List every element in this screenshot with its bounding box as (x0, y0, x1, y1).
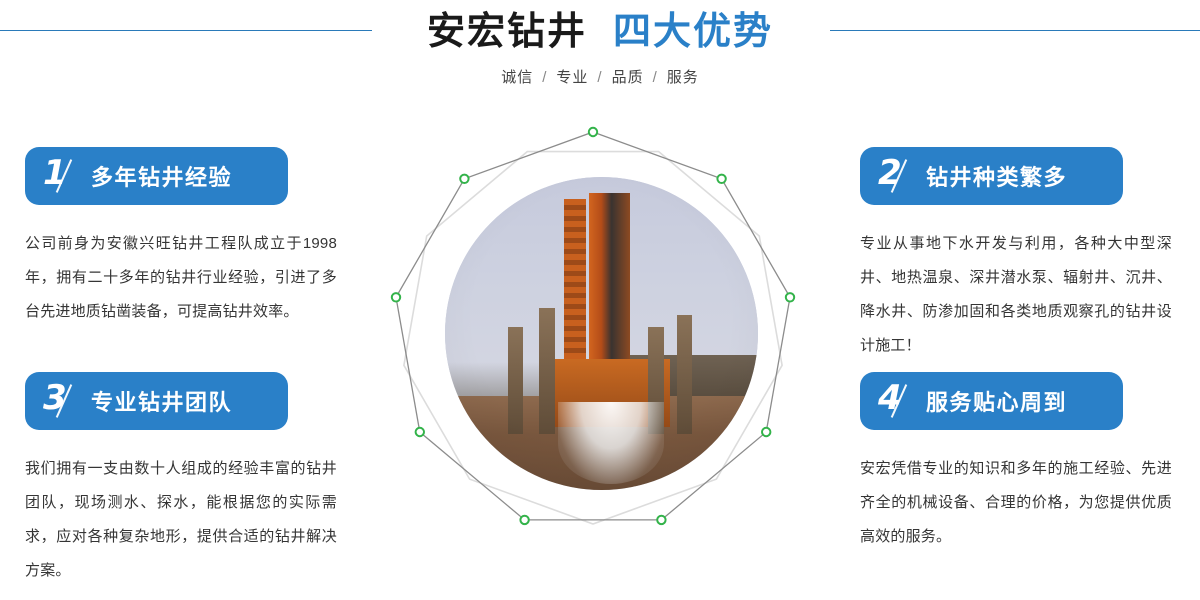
feature-card-1-header: 1 多年钻井经验 (25, 147, 288, 205)
number-3-icon: 3 (43, 379, 89, 423)
subtitle-item-2: 专业 (556, 69, 588, 86)
feature-card-4-body: 安宏凭借专业的知识和多年的施工经验、先进齐全的机械设备、合理的价格，为您提供优质… (860, 452, 1172, 554)
page-title: 安宏钻井四大优势 (0, 8, 1200, 56)
feature-card-1: 1 多年钻井经验 公司前身为安徽兴旺钻井工程队成立于1998年，拥有二十多年的钻… (25, 147, 345, 329)
polygon-vertex-marker (762, 428, 770, 436)
page-title-accent: 四大优势 (613, 11, 773, 53)
subtitle-item-1: 诚信 (501, 69, 533, 86)
feature-card-3-body: 我们拥有一支由数十人组成的经验丰富的钻井团队，现场测水、探水，能根据您的实际需求… (25, 452, 337, 588)
feature-card-2-header: 2 钻井种类繁多 (860, 147, 1123, 205)
polygon-vertex-marker (786, 293, 794, 301)
page-title-primary: 安宏钻井 (427, 11, 587, 53)
feature-card-4-header: 4 服务贴心周到 (860, 372, 1123, 430)
subtitle-separator-3: / (653, 69, 658, 86)
polygon-vertex-marker (657, 516, 665, 524)
photo-vignette (445, 177, 758, 490)
feature-card-3: 3 专业钻井团队 我们拥有一支由数十人组成的经验丰富的钻井团队，现场测水、探水，… (25, 372, 345, 588)
feature-card-4: 4 服务贴心周到 安宏凭借专业的知识和多年的施工经验、先进齐全的机械设备、合理的… (860, 372, 1180, 554)
subtitle-item-4: 服务 (667, 69, 699, 86)
feature-card-2-title: 钻井种类繁多 (926, 160, 1067, 192)
photo-scene (445, 177, 758, 490)
number-2-icon: 2 (878, 154, 924, 198)
feature-card-3-title: 专业钻井团队 (91, 385, 232, 417)
polygon-vertex-marker (416, 428, 424, 436)
polygon-vertex-marker (520, 516, 528, 524)
polygon-vertex-marker (589, 128, 597, 136)
feature-card-3-header: 3 专业钻井团队 (25, 372, 288, 430)
page-root: 安宏钻井四大优势 诚信/专业/品质/服务 1 多年钻井经验 公司前身为安徽兴旺钻… (0, 0, 1200, 600)
subtitle-separator-1: / (542, 69, 547, 86)
number-4-icon: 4 (878, 379, 924, 423)
polygon-vertex-marker (392, 293, 400, 301)
drilling-site-photo (445, 177, 758, 490)
subtitle-separator-2: / (597, 69, 602, 86)
number-1-icon: 1 (43, 154, 89, 198)
subtitle-item-3: 品质 (612, 69, 644, 86)
feature-card-4-title: 服务贴心周到 (926, 385, 1067, 417)
feature-card-2: 2 钻井种类繁多 专业从事地下水开发与利用，各种大中型深井、地热温泉、深井潜水泵… (860, 147, 1180, 363)
center-graphic (373, 112, 813, 552)
feature-card-2-body: 专业从事地下水开发与利用，各种大中型深井、地热温泉、深井潜水泵、辐射井、沉井、降… (860, 227, 1172, 363)
feature-card-1-body: 公司前身为安徽兴旺钻井工程队成立于1998年，拥有二十多年的钻井行业经验，引进了… (25, 227, 337, 329)
page-subtitle: 诚信/专业/品质/服务 (0, 66, 1200, 90)
feature-card-1-title: 多年钻井经验 (91, 160, 232, 192)
